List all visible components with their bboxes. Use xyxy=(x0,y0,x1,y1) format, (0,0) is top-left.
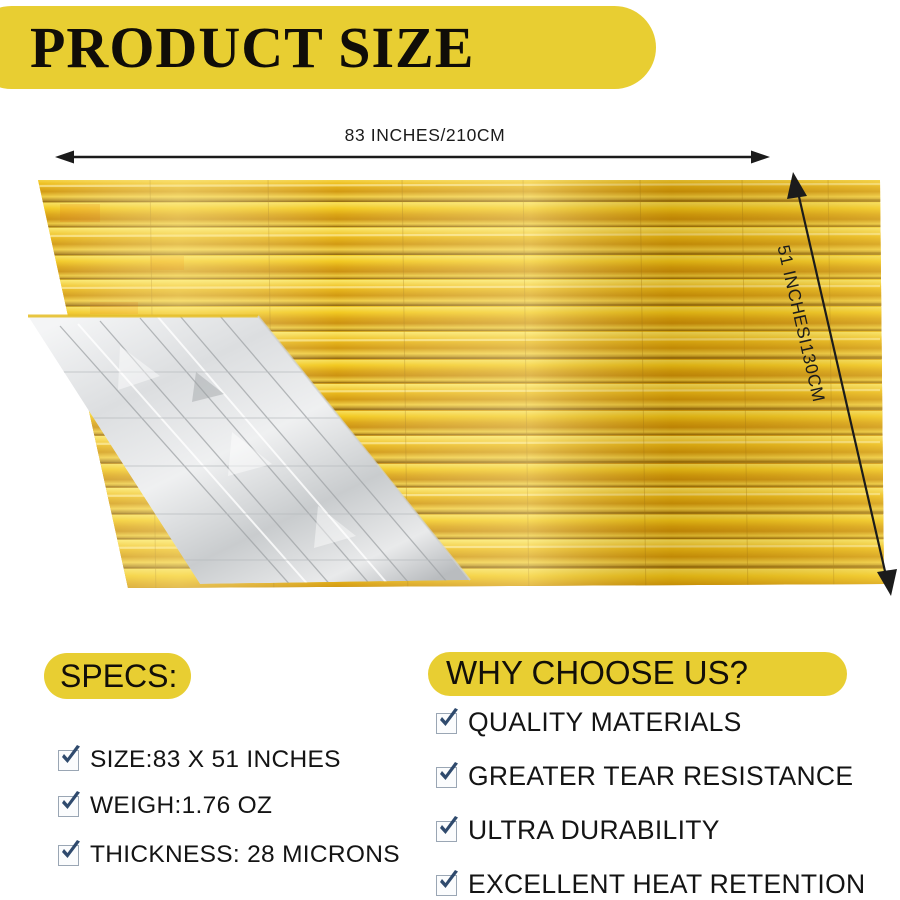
list-item-label: WEIGH:1.76 OZ xyxy=(90,791,272,820)
checkmark-icon xyxy=(436,713,457,734)
product-photo xyxy=(0,176,900,600)
list-item-label: QUALITY MATERIALS xyxy=(468,708,742,737)
specs-heading: SPECS: xyxy=(60,653,200,699)
list-item: ULTRA DURABILITY xyxy=(436,816,720,845)
width-dimension-arrow xyxy=(55,144,770,170)
checkmark-icon xyxy=(58,796,79,817)
checkmark-icon xyxy=(58,845,79,866)
width-dimension-label: 83 INCHES/210CM xyxy=(260,125,590,146)
checkmark-icon xyxy=(436,767,457,788)
checkmark-icon xyxy=(436,875,457,896)
why-choose-us-heading: WHY CHOOSE US? xyxy=(446,650,866,696)
list-item: THICKNESS: 28 MICRONS xyxy=(58,840,400,869)
checkmark-icon xyxy=(436,821,457,842)
page-title: PRODUCT SIZE xyxy=(30,6,656,89)
list-item: SIZE:83 X 51 INCHES xyxy=(58,745,341,774)
list-item: GREATER TEAR RESISTANCE xyxy=(436,762,853,791)
list-item-label: THICKNESS: 28 MICRONS xyxy=(90,840,400,869)
list-item: EXCELLENT HEAT RETENTION xyxy=(436,870,865,899)
height-dimension-arrow xyxy=(775,168,900,600)
list-item: QUALITY MATERIALS xyxy=(436,708,742,737)
list-item: WEIGH:1.76 OZ xyxy=(58,791,272,820)
list-item-label: EXCELLENT HEAT RETENTION xyxy=(468,870,865,899)
list-item-label: ULTRA DURABILITY xyxy=(468,816,720,845)
list-item-label: SIZE:83 X 51 INCHES xyxy=(90,745,341,774)
list-item-label: GREATER TEAR RESISTANCE xyxy=(468,762,853,791)
infographic-canvas: PRODUCT SIZE 83 INCHES/210CM xyxy=(0,0,900,900)
checkmark-icon xyxy=(58,750,79,771)
